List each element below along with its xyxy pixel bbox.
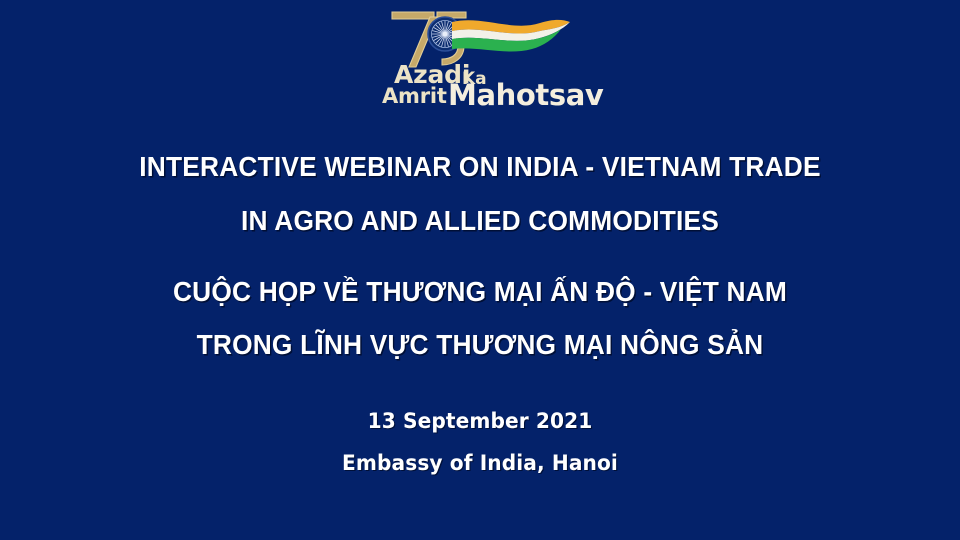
- title-english-line-2: IN AGRO AND ALLIED COMMODITIES: [29, 207, 931, 235]
- event-date: 13 September 2021: [19, 411, 941, 432]
- title-vietnamese-line-1: CUỘC HỌP VỀ THƯƠNG MẠI ẤN ĐỘ - VIỆT NAM: [29, 278, 931, 306]
- webinar-title-slide: Azadi Ka Amrit Mahotsav INTERACTIVE WEBI…: [0, 0, 960, 540]
- tricolour-ribbon-icon: [452, 20, 570, 52]
- title-english-line-1: INTERACTIVE WEBINAR ON INDIA - VIETNAM T…: [29, 153, 931, 181]
- logo-word-mahotsav: Mahotsav: [448, 81, 603, 110]
- event-venue: Embassy of India, Hanoi: [19, 453, 941, 474]
- title-vietnamese-line-2: TRONG LĨNH VỰC THƯƠNG MẠI NÔNG SẢN: [29, 331, 931, 359]
- logo-word-amrit: Amrit: [382, 86, 447, 107]
- azadi-ka-amrit-mahotsav-logo: Azadi Ka Amrit Mahotsav: [0, 8, 960, 120]
- logo-wordmark: Azadi Ka Amrit Mahotsav: [382, 62, 578, 120]
